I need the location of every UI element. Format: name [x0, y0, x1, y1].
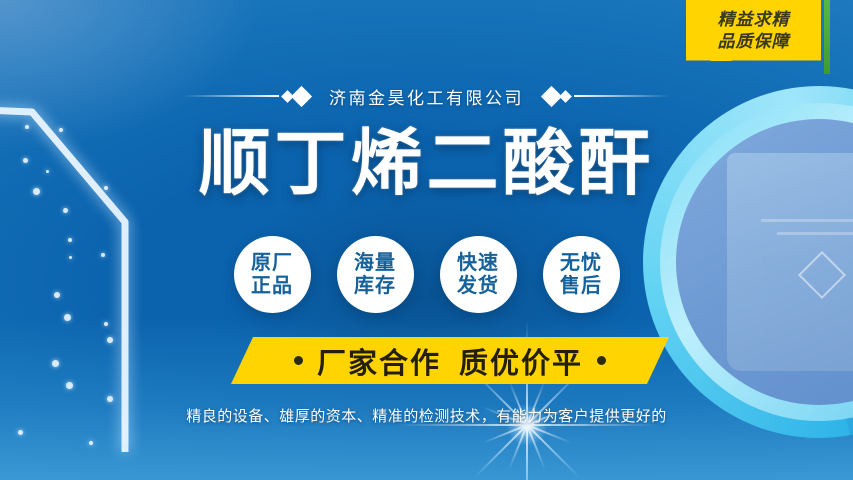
- slogan-right: 质优价平: [459, 348, 583, 380]
- description-text: 精良的设备、雄厚的资本、精准的检测技术，有能力为客户提供更好的: [0, 405, 853, 426]
- bullet-right-icon: [597, 356, 606, 365]
- yellow-slogan-strip: 厂家合作质优价平: [231, 337, 669, 384]
- badge-line-1: 快速: [457, 252, 499, 275]
- ribbon-line-2: 品质保障: [692, 31, 815, 53]
- bullet-left-icon: [294, 356, 303, 365]
- slogan-left: 厂家合作: [317, 348, 441, 380]
- page-title: 顺丁烯二酸酐: [0, 128, 853, 201]
- company-name: 济南金昊化工有限公司: [313, 84, 540, 109]
- rule-left: [183, 95, 279, 97]
- badge-line-1: 无忧: [560, 252, 602, 275]
- diamond-small-icon: [559, 90, 572, 103]
- slogan-text: 厂家合作质优价平: [317, 340, 583, 382]
- badge-line-2: 库存: [354, 275, 396, 298]
- badge-line-2: 正品: [251, 275, 293, 298]
- diamond-group-right: [544, 89, 570, 104]
- badge-hailiang-kucun: 海量 库存: [337, 236, 414, 313]
- diamond-group-left: [283, 89, 309, 104]
- product-label-line-2: [777, 232, 853, 235]
- ribbon-line-1: 精益求精: [692, 9, 815, 31]
- quality-ribbon: 精益求精 品质保障: [686, 0, 821, 61]
- badge-wuyou-shouhou: 无忧 售后: [543, 236, 620, 313]
- ribbon-green-stripe: [824, 0, 830, 74]
- badge-line-1: 海量: [354, 252, 396, 275]
- rule-right: [574, 95, 670, 97]
- promotional-banner: 精益求精 品质保障 济南金昊化工有限公司 顺丁烯二酸酐 原厂 正品 海量 库存 …: [0, 0, 853, 480]
- badge-line-1: 原厂: [251, 252, 293, 275]
- company-name-row: 济南金昊化工有限公司: [0, 82, 853, 110]
- badge-line-2: 售后: [560, 275, 602, 298]
- badge-yuanchang-zhengpin: 原厂 正品: [234, 236, 311, 313]
- feature-badges: 原厂 正品 海量 库存 快速 发货 无忧 售后: [0, 236, 853, 313]
- badge-line-2: 发货: [457, 275, 499, 298]
- product-label-line-1: [761, 219, 853, 222]
- diamond-large-icon: [291, 85, 312, 106]
- badge-kuaisu-fahuo: 快速 发货: [440, 236, 517, 313]
- ribbon-box: 精益求精 品质保障: [686, 0, 821, 61]
